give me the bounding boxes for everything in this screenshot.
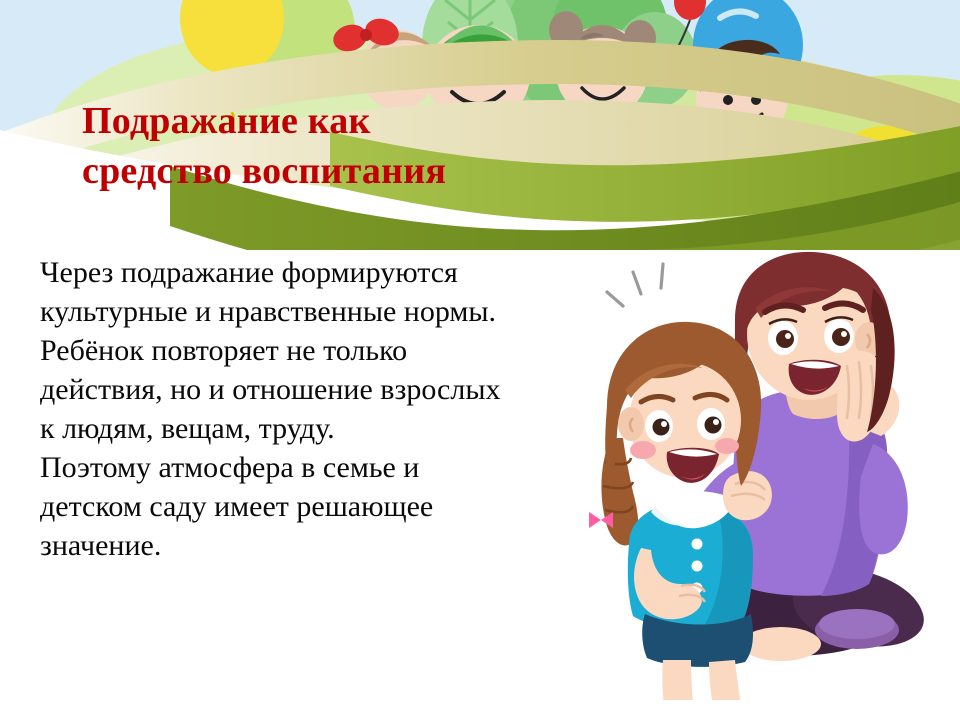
body-line-5: к людям, вещам, труду. bbox=[40, 409, 580, 448]
mother-foot bbox=[741, 627, 821, 661]
slide-root: Подражание как средство воспитания Через… bbox=[0, 0, 960, 720]
slide-body-text: Через подражание формируются культурные … bbox=[40, 253, 580, 565]
body-line-3: Ребёнок повторяет не только bbox=[40, 331, 580, 370]
title-line-1: Подражание как bbox=[82, 96, 552, 146]
daughter-cheek-left bbox=[630, 441, 656, 459]
daughter-eye-right bbox=[697, 408, 725, 440]
body-line-1: Через подражание формируются bbox=[40, 253, 580, 292]
daughter-leg-right bbox=[709, 660, 745, 700]
motion-lines-icon bbox=[607, 264, 663, 306]
daughter-figure bbox=[589, 322, 772, 700]
body-line-6: Поэтому атмосфера в семье и bbox=[40, 448, 580, 487]
body-line-2: культурные и нравственные нормы. bbox=[40, 292, 580, 331]
slide-title: Подражание как средство воспитания bbox=[82, 96, 552, 196]
body-line-7: детском саду имеет решающее bbox=[40, 487, 580, 526]
daughter-button-1 bbox=[692, 539, 703, 550]
body-line-8: значение. bbox=[40, 526, 580, 565]
daughter-hair-tie bbox=[589, 512, 613, 528]
title-line-2: средство воспитания bbox=[82, 146, 552, 196]
daughter-button-2 bbox=[692, 561, 703, 572]
daughter-leg-left bbox=[662, 660, 695, 700]
daughter-eye-left bbox=[645, 410, 673, 442]
daughter-cheek-right bbox=[715, 438, 739, 454]
mother-daughter-illustration bbox=[585, 248, 960, 700]
body-line-4: действия, но и отношение взрослых bbox=[40, 370, 580, 409]
